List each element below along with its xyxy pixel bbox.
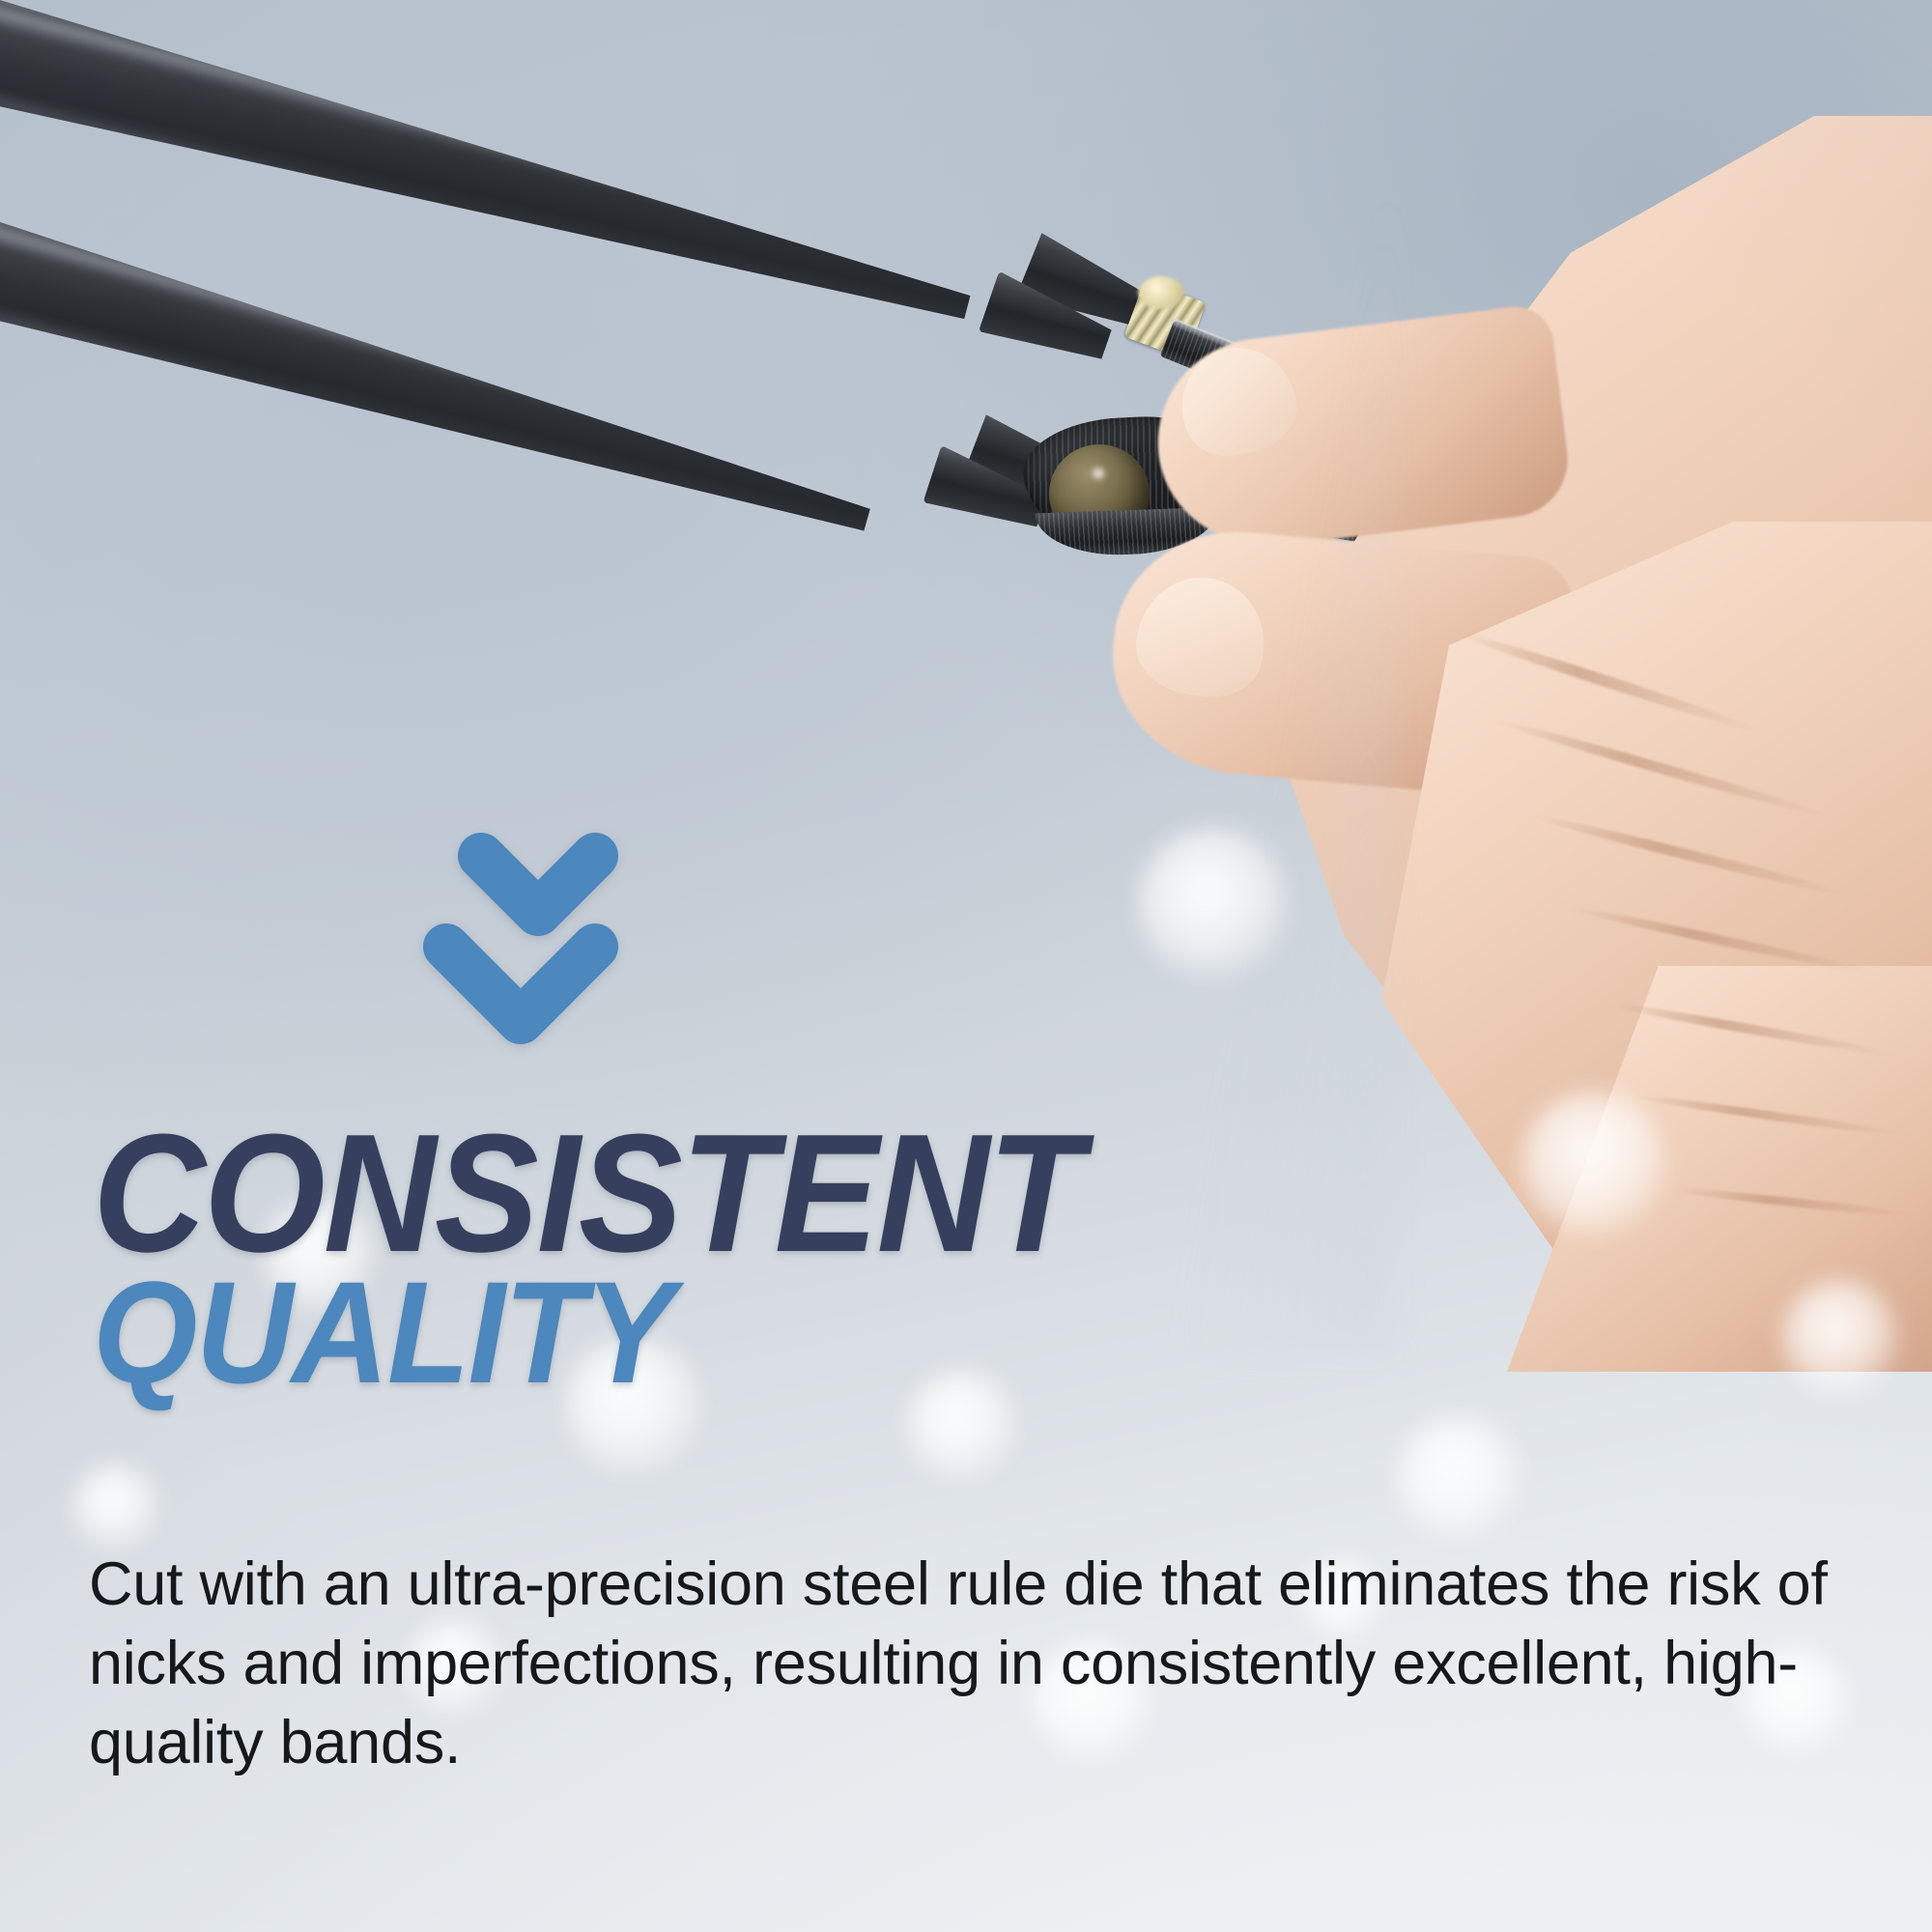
- headline: CONSISTENT QUALITY: [93, 1119, 1542, 1396]
- description-text: Cut with an ultra-precision steel rule d…: [89, 1546, 1905, 1783]
- bokeh-circle: [1521, 1092, 1666, 1236]
- bokeh-circle: [73, 1464, 158, 1549]
- double-chevron-down-icon: [406, 821, 647, 1063]
- page-title: CONSISTENT: [93, 1119, 1440, 1266]
- bokeh-circle: [1397, 1416, 1520, 1540]
- chevron-down-top: [481, 856, 595, 913]
- page-subtitle: QUALITY: [93, 1268, 1440, 1396]
- bokeh-circle: [1138, 829, 1288, 979]
- product-feature-card: CONSISTENT QUALITY Cut with an ultra-pre…: [0, 0, 1932, 1932]
- chevron-down-bottom: [446, 947, 595, 1021]
- bokeh-circle: [1782, 1280, 1898, 1396]
